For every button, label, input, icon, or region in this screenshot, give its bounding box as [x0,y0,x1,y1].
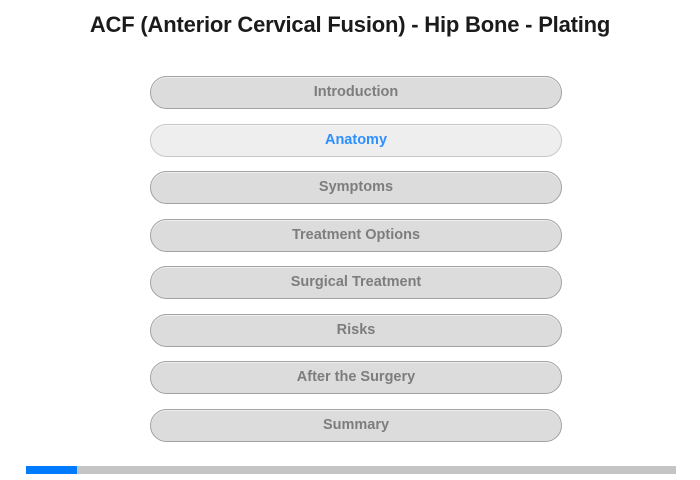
menu-item-anatomy[interactable]: Anatomy [150,124,562,157]
page-title: ACF (Anterior Cervical Fusion) - Hip Bon… [0,12,700,38]
menu-item-symptoms[interactable]: Symptoms [150,171,562,204]
menu-item-introduction[interactable]: Introduction [150,76,562,109]
chapter-menu: Introduction Anatomy Symptoms Treatment … [150,76,562,456]
menu-item-after-the-surgery[interactable]: After the Surgery [150,361,562,394]
menu-item-summary[interactable]: Summary [150,409,562,442]
presentation-root: ACF (Anterior Cervical Fusion) - Hip Bon… [0,0,700,480]
menu-item-surgical-treatment[interactable]: Surgical Treatment [150,266,562,299]
menu-item-treatment-options[interactable]: Treatment Options [150,219,562,252]
progress-bar-fill [26,466,77,474]
menu-item-risks[interactable]: Risks [150,314,562,347]
progress-bar-track[interactable] [26,466,676,474]
